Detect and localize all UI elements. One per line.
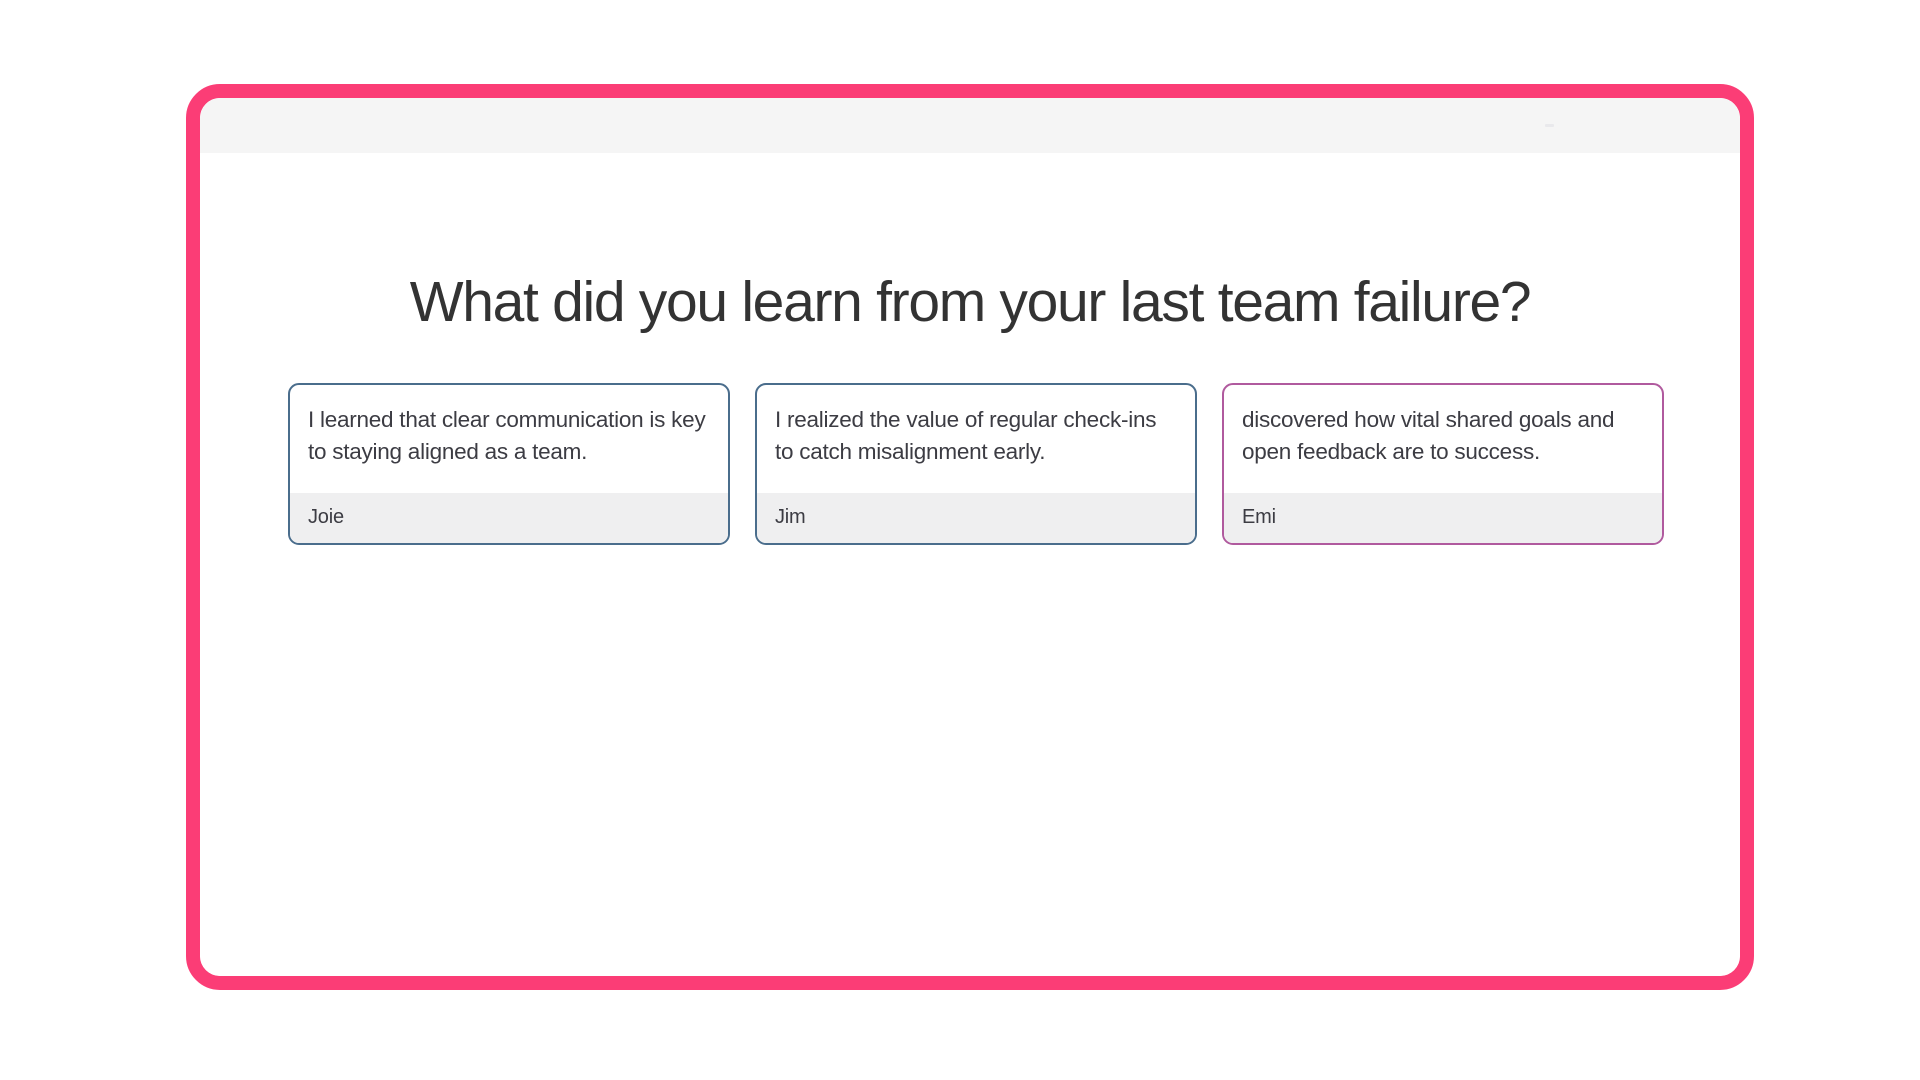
responses-list: I learned that clear communication is ke… — [288, 383, 1664, 545]
page-title: What did you learn from your last team f… — [200, 271, 1740, 334]
topbar-marker-icon — [1545, 124, 1554, 127]
response-text: I realized the value of regular check-in… — [757, 385, 1195, 493]
response-author: Emi — [1224, 493, 1662, 543]
slide-surface: What did you learn from your last team f… — [200, 98, 1740, 976]
slide-topbar — [200, 98, 1740, 153]
response-card[interactable]: I learned that clear communication is ke… — [288, 383, 730, 545]
response-card[interactable]: discovered how vital shared goals and op… — [1222, 383, 1664, 545]
response-author: Jim — [757, 493, 1195, 543]
response-author: Joie — [290, 493, 728, 543]
app-root: What did you learn from your last team f… — [0, 0, 1920, 1080]
response-text: I learned that clear communication is ke… — [290, 385, 728, 493]
response-text: discovered how vital shared goals and op… — [1224, 385, 1662, 493]
response-card[interactable]: I realized the value of regular check-in… — [755, 383, 1197, 545]
presentation-frame: What did you learn from your last team f… — [186, 84, 1754, 990]
